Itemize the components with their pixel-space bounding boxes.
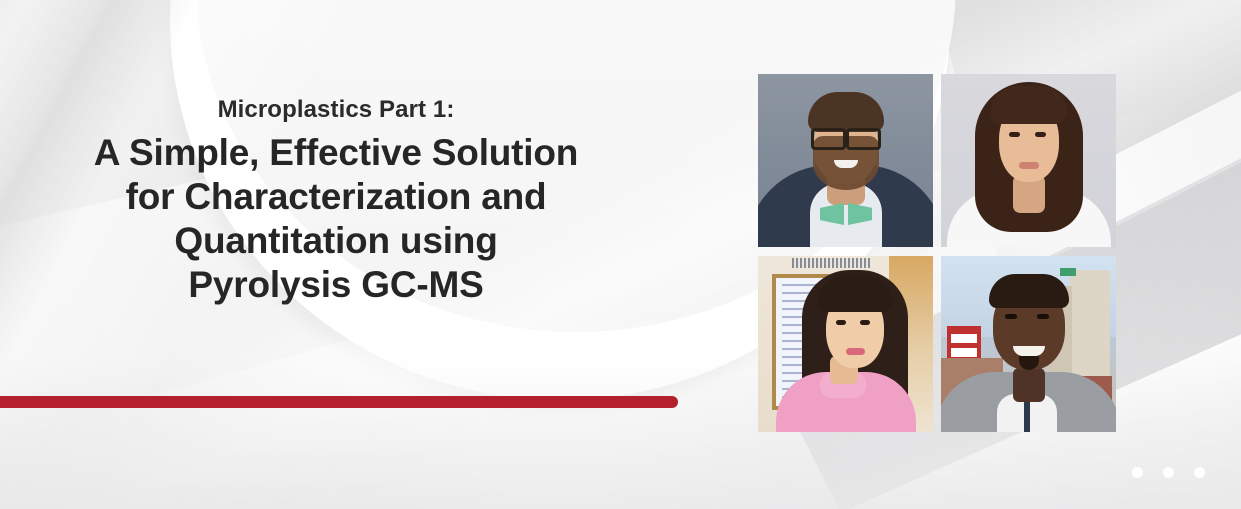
- slide-eyebrow: Microplastics Part 1:: [0, 96, 672, 124]
- eye-right-shape: [1037, 314, 1049, 319]
- lips-shape: [846, 348, 865, 355]
- green-signage-shape: [1060, 268, 1076, 276]
- pagination-dot-2[interactable]: [1163, 467, 1174, 478]
- neck-shape: [1013, 368, 1045, 402]
- title-block: Microplastics Part 1: A Simple, Effectiv…: [0, 96, 672, 307]
- presenter-photo-top-right: [941, 74, 1116, 247]
- hair-shape: [808, 92, 884, 132]
- pagination-dots[interactable]: [1132, 467, 1205, 478]
- accent-rule: [0, 396, 678, 408]
- hair-top-shape: [991, 86, 1067, 124]
- eye-right-shape: [1035, 132, 1046, 137]
- bowtie-shape: [820, 203, 872, 225]
- eye-left-shape: [1009, 132, 1020, 137]
- presenter-photo-bottom-right: [941, 256, 1116, 432]
- page-title-line-2: for Characterization and: [0, 175, 672, 219]
- eye-right-shape: [860, 320, 870, 325]
- page-title-line-4: Pyrolysis GC-MS: [0, 263, 672, 307]
- eye-left-shape: [836, 320, 846, 325]
- page-title-line-1: A Simple, Effective Solution: [0, 131, 672, 175]
- page-title: A Simple, Effective Solution for Charact…: [0, 131, 672, 307]
- pagination-dot-3[interactable]: [1194, 467, 1205, 478]
- title-slide: Microplastics Part 1: A Simple, Effectiv…: [0, 0, 1241, 509]
- zipper-shape: [1024, 398, 1030, 432]
- presenter-photo-bottom-left: [758, 256, 933, 432]
- page-title-line-3: Quantitation using: [0, 219, 672, 263]
- presenter-photo-top-left: [758, 74, 933, 247]
- glasses-shape: [811, 128, 881, 144]
- smile-shape: [1013, 346, 1045, 356]
- hair-top-shape: [818, 276, 892, 312]
- lips-shape: [1019, 162, 1039, 169]
- hair-shape: [989, 274, 1069, 308]
- pagination-dot-1[interactable]: [1132, 467, 1143, 478]
- presenter-photo-grid: [758, 74, 1116, 432]
- building-shape-a: [1070, 270, 1110, 390]
- eye-left-shape: [1005, 314, 1017, 319]
- vent-shape: [792, 258, 870, 268]
